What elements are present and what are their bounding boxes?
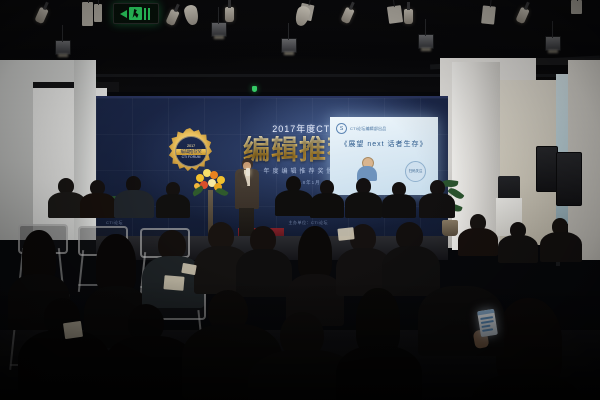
acoustic-panel (571, 0, 582, 14)
pendant-light (545, 36, 561, 51)
audience-head-long-hair (96, 234, 136, 294)
pendant-light (55, 40, 71, 55)
audience-head-long-hair (298, 226, 332, 280)
audience-shoulders (80, 193, 116, 218)
audience-shoulders (458, 228, 498, 256)
seal-band-text: 编辑推荐奖 (176, 149, 206, 155)
emergency-exit-sign (113, 3, 159, 24)
seal-bottom-text: CTI FORUM (182, 156, 201, 159)
green-indicator-light (252, 86, 257, 92)
audience-shoulders (382, 194, 416, 218)
exit-arrow-icon (120, 10, 127, 18)
track-light (225, 7, 234, 22)
slide-logo-icon: S (336, 123, 347, 134)
running-man-icon (129, 7, 142, 20)
audience-shoulders (345, 192, 382, 218)
cone-lamp (183, 4, 200, 26)
award-seal: 2017 编辑推荐奖 CTI FORUM (168, 128, 212, 172)
program-paper (63, 321, 83, 339)
track-light (404, 9, 413, 24)
program-paper (337, 227, 354, 241)
audience-shoulders (498, 235, 538, 263)
track-light (340, 7, 354, 24)
pendant-light (418, 34, 434, 49)
audience-shoulders (382, 246, 440, 296)
pendant-light (211, 22, 227, 37)
track-light (34, 7, 48, 24)
audience-shoulders (419, 193, 455, 218)
slide-title: 《展望 next 话者生存》 (330, 139, 438, 149)
audience-shoulders (275, 190, 313, 216)
audience-shoulders (336, 346, 422, 400)
audience-head-long-hair (356, 288, 400, 354)
pendant-light (281, 38, 297, 53)
track-light (515, 7, 529, 24)
audience-shoulders (310, 193, 344, 218)
exit-door-icon (144, 8, 152, 20)
audience-shoulders (236, 249, 292, 297)
acoustic-panel (94, 4, 102, 22)
acoustic-panel (82, 2, 93, 26)
audience-shoulders (472, 374, 580, 400)
seated-audience (0, 170, 600, 400)
audience-shoulders (18, 330, 110, 400)
phone-content-row (481, 325, 490, 328)
audience-shoulders (540, 232, 582, 262)
conference-hall-photo: 2017 编辑推荐奖 CTI FORUM 2017年度CTI论坛 编辑推荐奖 年… (0, 0, 600, 400)
audience-shoulders (156, 194, 190, 218)
program-paper (163, 275, 184, 291)
phone-content-row (481, 320, 494, 324)
phone-content-row (482, 328, 493, 332)
seal-inner: 2017 编辑推荐奖 CTI FORUM (175, 136, 207, 167)
acoustic-panel (481, 5, 496, 24)
audience-shoulders (114, 190, 154, 218)
slide-header: S CTI论坛编辑部出品 (336, 123, 386, 134)
track-light (165, 9, 179, 26)
acoustic-panel (387, 5, 403, 24)
slide-header-text: CTI论坛编辑部出品 (350, 126, 386, 132)
seal-top-text: 2017 (187, 144, 195, 148)
cone-lamp (293, 5, 311, 28)
